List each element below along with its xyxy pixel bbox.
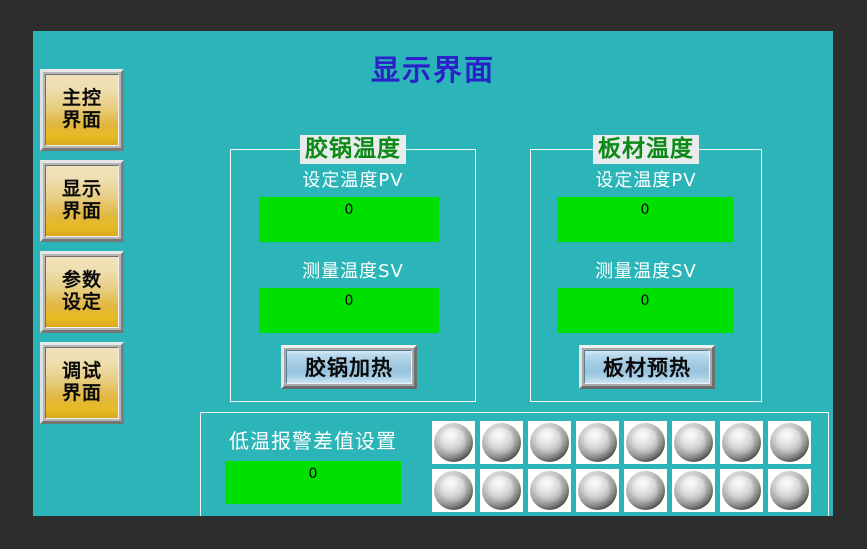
lamp-icon — [722, 423, 761, 462]
board-setpoint-value[interactable]: 0 — [557, 197, 733, 242]
lamp-icon — [578, 423, 617, 462]
indicator-lamp-16[interactable] — [768, 469, 811, 512]
glue-pot-heat-button[interactable]: 胶锅加热 — [281, 345, 417, 389]
glue-measured-value[interactable]: 0 — [259, 288, 439, 333]
sidebar: 主控 界面 显示 界面 参数 设定 调试 界面 — [40, 69, 130, 433]
indicator-lamp-3[interactable] — [528, 421, 571, 464]
sidebar-item-main-control-label-line2: 界面 — [62, 110, 102, 132]
lamp-icon — [770, 423, 809, 462]
indicator-lamp-11[interactable] — [528, 469, 571, 512]
indicator-lamp-13[interactable] — [624, 469, 667, 512]
indicator-lamp-row — [432, 421, 811, 464]
sidebar-item-debug-label-line2: 界面 — [62, 383, 102, 405]
sidebar-item-parameters-label-line1: 参数 — [62, 270, 102, 292]
glue-setpoint-value[interactable]: 0 — [259, 197, 439, 242]
board-measured-value[interactable]: 0 — [557, 288, 733, 333]
lamp-icon — [434, 423, 473, 462]
panel-low-temp-alarm: 低温报警差值设置 0 — [200, 412, 829, 516]
indicator-lamp-4[interactable] — [576, 421, 619, 464]
sidebar-item-display-label-line2: 界面 — [62, 201, 102, 223]
screenshot-root: 显示界面 主控 界面 显示 界面 参数 设定 — [0, 0, 867, 549]
glue-pot-heat-button-label: 胶锅加热 — [305, 352, 393, 382]
board-preheat-button-label: 板材预热 — [603, 352, 691, 382]
indicator-lamp-row — [432, 469, 811, 512]
glue-pot-heat-button-face: 胶锅加热 — [286, 350, 412, 384]
board-measured-label: 测量温度SV — [531, 263, 761, 281]
lamp-icon — [674, 423, 713, 462]
lamp-icon — [722, 471, 761, 510]
lamp-icon — [674, 471, 713, 510]
lamp-icon — [482, 423, 521, 462]
indicator-lamp-14[interactable] — [672, 469, 715, 512]
sidebar-item-debug-label-line1: 调试 — [62, 361, 102, 383]
page-title: 显示界面 — [33, 56, 833, 85]
lamp-icon — [770, 471, 809, 510]
indicator-lamp-1[interactable] — [432, 421, 475, 464]
board-preheat-button-face: 板材预热 — [584, 350, 710, 384]
alarm-difference-label: 低温报警差值设置 — [201, 431, 425, 451]
sidebar-item-display-label-line1: 显示 — [62, 179, 102, 201]
panel-board-temperature: 板材温度 设定温度PV 0 测量温度SV 0 板材预热 — [530, 149, 762, 402]
glue-setpoint-label: 设定温度PV — [231, 172, 475, 190]
indicator-lamp-10[interactable] — [480, 469, 523, 512]
sidebar-item-parameters-face: 参数 设定 — [45, 256, 119, 328]
board-preheat-button[interactable]: 板材预热 — [579, 345, 715, 389]
sidebar-item-parameters-label-line2: 设定 — [62, 292, 102, 314]
indicator-lamp-2[interactable] — [480, 421, 523, 464]
indicator-lamp-grid — [432, 421, 811, 512]
indicator-lamp-12[interactable] — [576, 469, 619, 512]
sidebar-item-parameters[interactable]: 参数 设定 — [40, 251, 124, 333]
lamp-icon — [482, 471, 521, 510]
lamp-icon — [578, 471, 617, 510]
panel-glue-pot-temperature: 胶锅温度 设定温度PV 0 测量温度SV 0 胶锅加热 — [230, 149, 476, 402]
lamp-icon — [530, 423, 569, 462]
sidebar-item-debug-face: 调试 界面 — [45, 347, 119, 419]
sidebar-item-main-control-face: 主控 界面 — [45, 74, 119, 146]
lamp-icon — [530, 471, 569, 510]
indicator-lamp-6[interactable] — [672, 421, 715, 464]
lamp-icon — [626, 471, 665, 510]
indicator-lamp-9[interactable] — [432, 469, 475, 512]
indicator-lamp-15[interactable] — [720, 469, 763, 512]
lamp-icon — [434, 471, 473, 510]
panel-glue-pot-title: 胶锅温度 — [300, 135, 406, 164]
indicator-lamp-5[interactable] — [624, 421, 667, 464]
glue-measured-label: 测量温度SV — [231, 263, 475, 281]
sidebar-item-debug[interactable]: 调试 界面 — [40, 342, 124, 424]
panel-board-title: 板材温度 — [593, 135, 699, 164]
alarm-difference-value[interactable]: 0 — [225, 461, 401, 504]
sidebar-item-display-face: 显示 界面 — [45, 165, 119, 237]
sidebar-item-main-control[interactable]: 主控 界面 — [40, 69, 124, 151]
sidebar-item-main-control-label-line1: 主控 — [62, 88, 102, 110]
hmi-screen: 显示界面 主控 界面 显示 界面 参数 设定 — [33, 31, 833, 516]
board-setpoint-label: 设定温度PV — [531, 172, 761, 190]
sidebar-item-display[interactable]: 显示 界面 — [40, 160, 124, 242]
indicator-lamp-8[interactable] — [768, 421, 811, 464]
lamp-icon — [626, 423, 665, 462]
indicator-lamp-7[interactable] — [720, 421, 763, 464]
